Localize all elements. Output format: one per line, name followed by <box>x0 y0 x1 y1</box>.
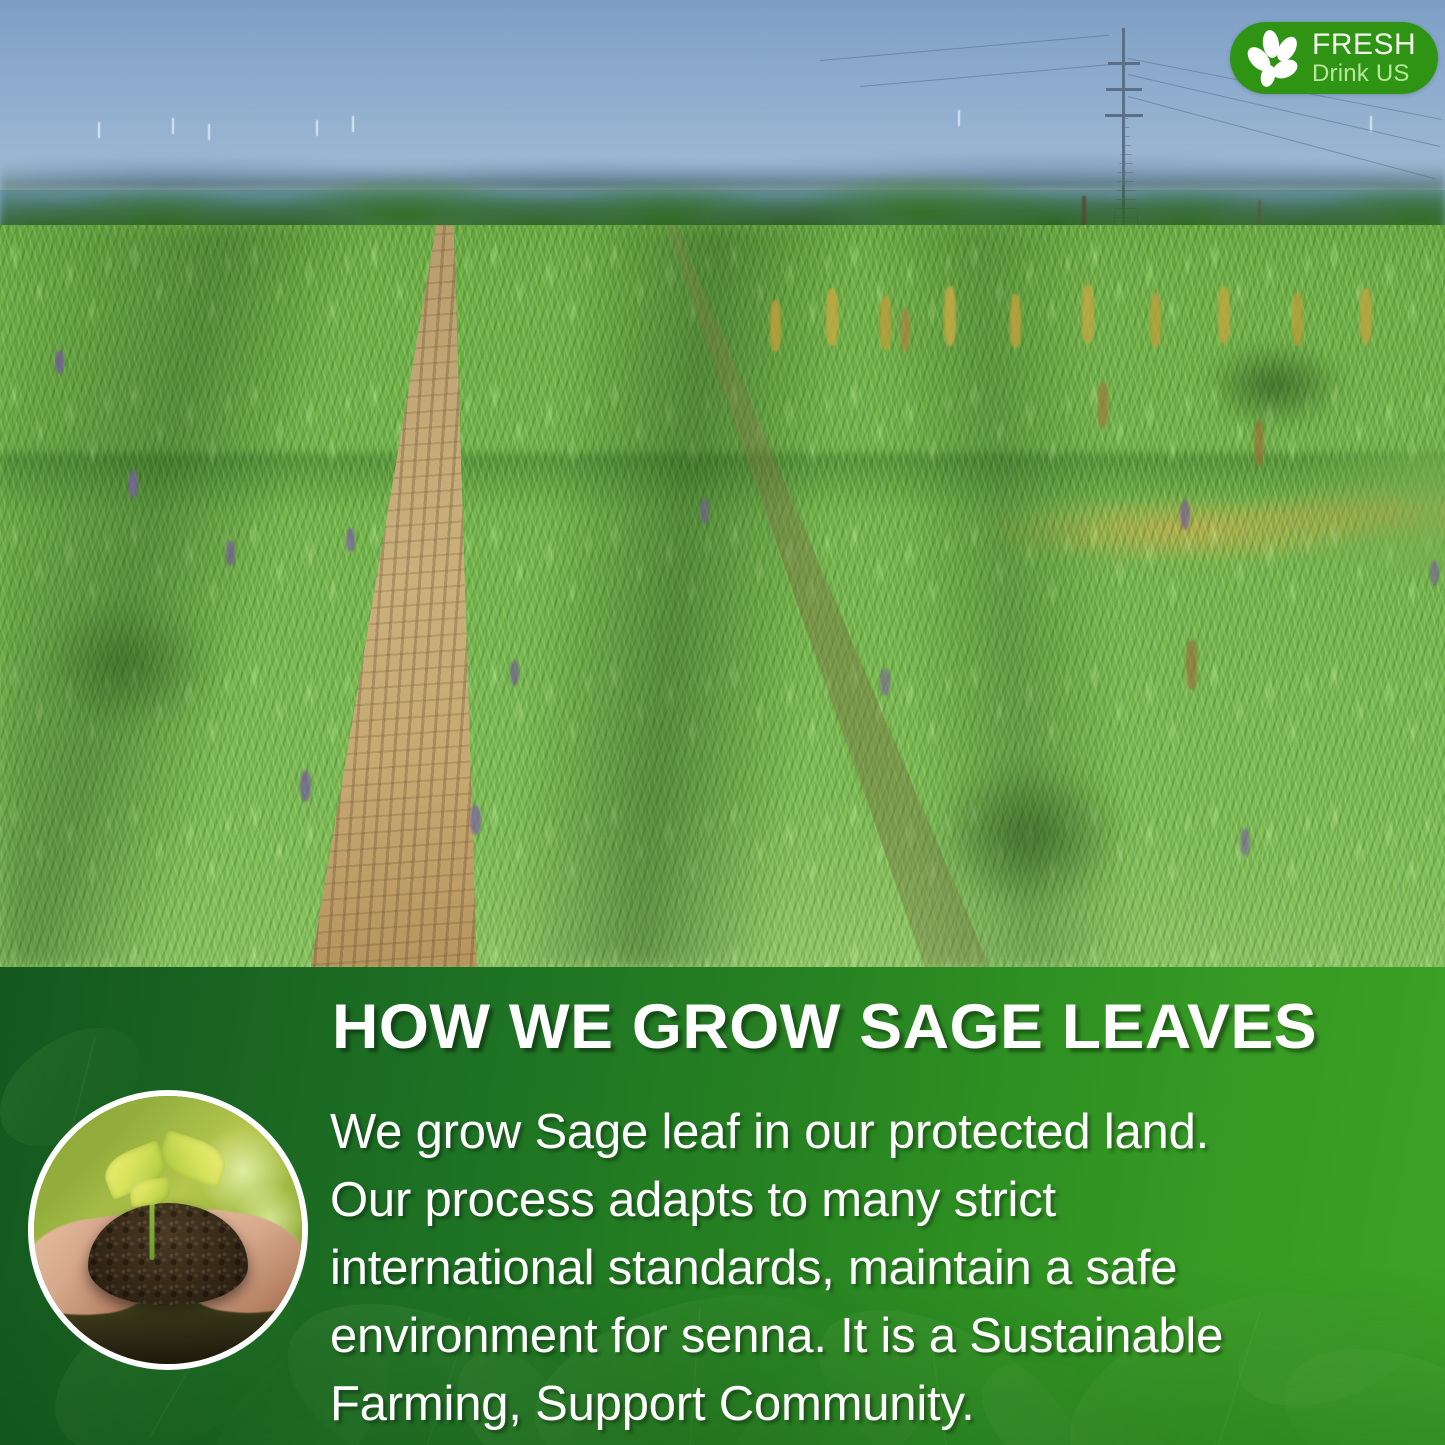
sage-field-photo: FRESH Drink US <box>0 0 1445 967</box>
sage-flower <box>55 350 64 374</box>
seed-stalk <box>1186 640 1197 690</box>
logo-text-block: FRESH Drink US <box>1312 30 1416 86</box>
body-line-4: environment for senna. It is a Sustainab… <box>330 1302 1435 1370</box>
seed-stalk <box>1360 288 1372 344</box>
seed-stalk <box>1292 292 1303 346</box>
body-line-1: We grow Sage leaf in our protected land. <box>330 1098 1435 1166</box>
banner-body-text: We grow Sage leaf in our protected land.… <box>330 1098 1435 1438</box>
sage-flower <box>300 770 311 802</box>
sage-flower <box>226 540 235 566</box>
poster-root: FRESH Drink US <box>0 0 1445 1445</box>
body-line-3: international standards, maintain a safe <box>330 1234 1435 1302</box>
sage-flower <box>700 498 709 524</box>
seed-stalk <box>826 288 838 346</box>
seed-stalk <box>1082 284 1094 344</box>
sage-flower <box>1430 560 1439 586</box>
sage-flower <box>470 805 481 835</box>
seed-stalk <box>1098 382 1108 428</box>
body-line-2: Our process adapts to many strict <box>330 1166 1435 1234</box>
seed-stalk <box>1010 294 1021 348</box>
seed-stalk <box>900 308 910 352</box>
sage-flower <box>1240 828 1250 856</box>
dark-foliage-clump <box>1200 340 1350 430</box>
wind-turbine-icon <box>958 110 960 126</box>
fresh-drink-us-logo[interactable]: FRESH Drink US <box>1230 22 1438 94</box>
dark-foliage-clump <box>930 760 1130 910</box>
sage-flower <box>128 470 138 498</box>
seed-stalk <box>944 286 956 346</box>
leaf-cluster-icon <box>1244 28 1306 88</box>
logo-secondary-text: Drink US <box>1312 62 1416 86</box>
seed-stalk <box>880 296 891 350</box>
sage-flower <box>880 668 890 696</box>
dark-foliage-clump <box>40 600 220 730</box>
sage-flower <box>1180 500 1190 530</box>
seed-stalk <box>1218 286 1230 344</box>
logo-primary-text: FRESH <box>1312 30 1416 60</box>
seed-stalk <box>770 300 781 352</box>
page-title: HOW WE GROW SAGE LEAVES <box>332 995 1445 1059</box>
hands-holding-soil-seedling-photo <box>28 1090 308 1370</box>
sage-flower <box>510 660 519 686</box>
sage-flower <box>346 528 355 552</box>
body-line-5: Farming, Support Community. <box>330 1370 1435 1438</box>
seed-stalk <box>1150 292 1161 348</box>
